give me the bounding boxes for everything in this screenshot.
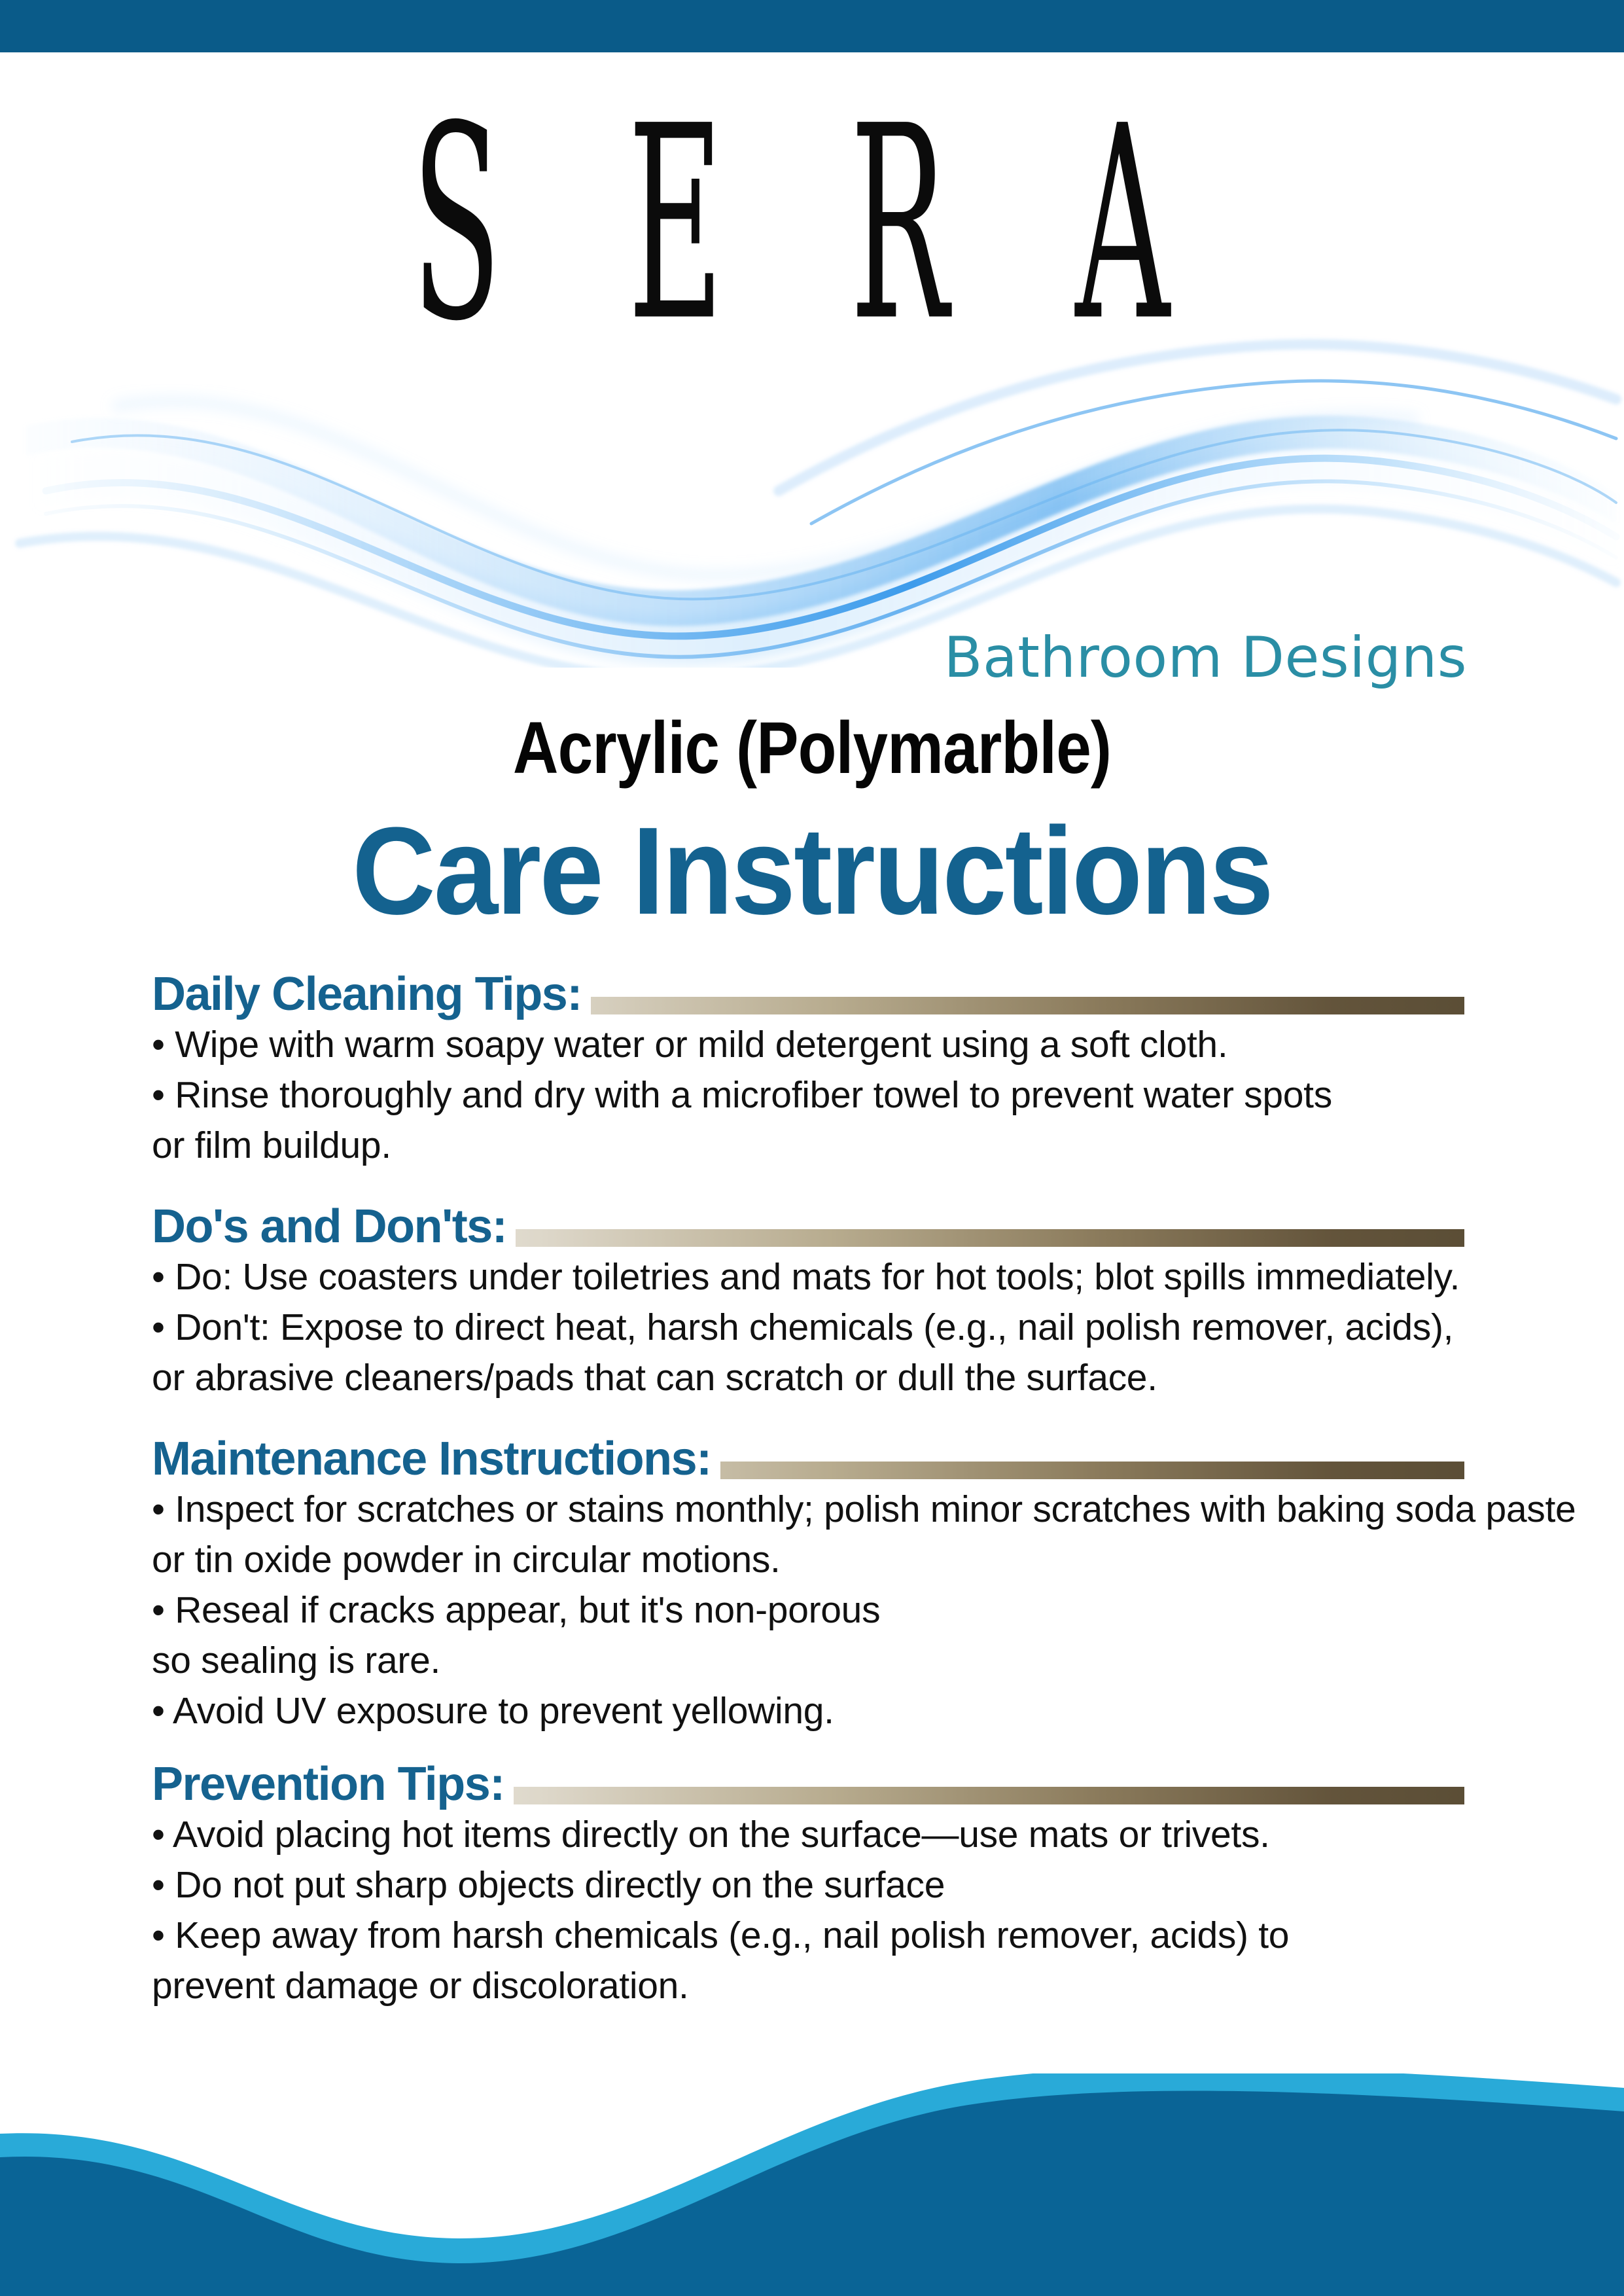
section-heading-label: Do's and Don'ts: <box>152 1201 516 1252</box>
material-title: Acrylic (Polymarble) <box>114 706 1511 790</box>
body-line: or film buildup. <box>152 1121 1487 1171</box>
body-line: • Wipe with warm soapy water or mild det… <box>152 1020 1487 1070</box>
section-prevention-tips: Prevention Tips: • Avoid placing hot ite… <box>0 1759 1624 2011</box>
section-heading-label: Maintenance Instructions: <box>152 1433 720 1484</box>
page-title: Care Instructions <box>57 800 1567 942</box>
section-heading-label: Daily Cleaning Tips: <box>152 969 591 1020</box>
section-daily-cleaning-tips: Daily Cleaning Tips: • Wipe with warm so… <box>0 969 1624 1171</box>
body-line: • Inspect for scratches or stains monthl… <box>152 1484 1487 1535</box>
section-heading-row: Maintenance Instructions: <box>152 1433 1464 1484</box>
section-maintenance-instructions: Maintenance Instructions: • Inspect for … <box>0 1433 1624 1736</box>
section-heading-row: Daily Cleaning Tips: <box>152 969 1464 1020</box>
body-line: • Keep away from harsh chemicals (e.g., … <box>152 1910 1487 1961</box>
top-accent-bar <box>0 0 1624 52</box>
body-line: so sealing is rare. <box>152 1636 1487 1686</box>
section-body: • Avoid placing hot items directly on th… <box>152 1810 1487 2011</box>
section-heading-label: Prevention Tips: <box>152 1759 514 1810</box>
section-dos-and-donts: Do's and Don'ts: • Do: Use coasters unde… <box>0 1201 1624 1403</box>
body-line: • Do: Use coasters under toiletries and … <box>152 1252 1487 1302</box>
body-line: or tin oxide powder in circular motions. <box>152 1535 1487 1585</box>
body-line: • Do not put sharp objects directly on t… <box>152 1860 1487 1910</box>
brand-logo-sera: S E R A <box>406 98 1218 352</box>
section-body: • Do: Use coasters under toiletries and … <box>152 1252 1487 1403</box>
body-line: • Don't: Expose to direct heat, harsh ch… <box>152 1302 1487 1353</box>
body-line: • Avoid placing hot items directly on th… <box>152 1810 1487 1860</box>
body-line: prevent damage or discoloration. <box>152 1961 1487 2011</box>
section-gap <box>0 1403 1624 1433</box>
care-instructions-content: Daily Cleaning Tips: • Wipe with warm so… <box>0 969 1624 2011</box>
body-line: or abrasive cleaners/pads that can scrat… <box>152 1353 1487 1403</box>
body-line: • Avoid UV exposure to prevent yellowing… <box>152 1686 1487 1736</box>
body-line: • Reseal if cracks appear, but it's non-… <box>152 1585 1487 1636</box>
section-gap <box>0 1736 1624 1759</box>
section-heading-row: Prevention Tips: <box>152 1759 1464 1810</box>
section-heading-row: Do's and Don'ts: <box>152 1201 1464 1252</box>
section-gap <box>0 1171 1624 1201</box>
section-body: • Inspect for scratches or stains monthl… <box>152 1484 1487 1736</box>
body-line: • Rinse thoroughly and dry with a microf… <box>152 1070 1487 1121</box>
brand-tagline: Bathroom Designs <box>944 625 1467 691</box>
footer-wave-graphic <box>0 2073 1624 2296</box>
section-body: • Wipe with warm soapy water or mild det… <box>152 1020 1487 1171</box>
poster-page: S E R A Bathroom Designs Acrylic (Polyma… <box>0 0 1624 2296</box>
